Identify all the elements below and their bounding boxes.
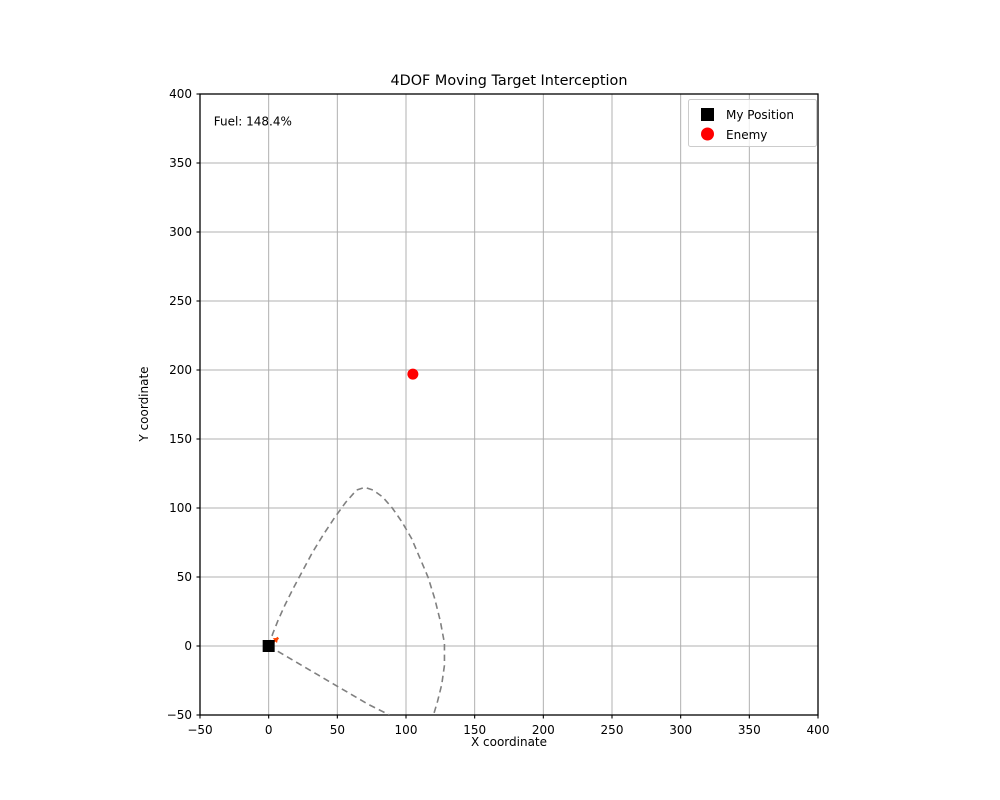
enemy-marker — [407, 369, 418, 380]
y-tick-label: −50 — [167, 708, 192, 722]
y-axis-label: Y coordinate — [137, 366, 151, 442]
x-tick-label: −50 — [187, 723, 212, 737]
y-tick-label: 400 — [169, 87, 192, 101]
y-tick-label: 350 — [169, 156, 192, 170]
y-tick-label: 300 — [169, 225, 192, 239]
page-title: 4DOF Moving Target Interception — [390, 73, 627, 89]
y-tick-label: 100 — [169, 501, 192, 515]
y-tick-label: 200 — [169, 363, 192, 377]
x-axis-label: X coordinate — [471, 735, 547, 749]
x-tick-label: 300 — [669, 723, 692, 737]
y-tick-label: 250 — [169, 294, 192, 308]
x-tick-label: 400 — [807, 723, 830, 737]
x-tick-label: 350 — [738, 723, 761, 737]
plot-canvas: −50050100150200250300350400−500501001502… — [0, 0, 1000, 800]
x-tick-label: 0 — [265, 723, 273, 737]
circle-marker-icon — [701, 128, 714, 141]
my-position-marker — [263, 640, 275, 652]
x-tick-label: 100 — [395, 723, 418, 737]
square-marker-icon — [701, 108, 714, 121]
matplotlib-figure: −50050100150200250300350400−500501001502… — [0, 0, 1000, 800]
legend-label-enemy: Enemy — [726, 128, 767, 142]
x-tick-label: 250 — [601, 723, 624, 737]
fuel-readout: Fuel: 148.4% — [214, 115, 292, 129]
y-tick-label: 0 — [184, 639, 192, 653]
annotation-layer: Fuel: 148.4% — [214, 115, 292, 129]
y-tick-label: 150 — [169, 432, 192, 446]
x-tick-label: 50 — [330, 723, 345, 737]
y-tick-label: 50 — [177, 570, 192, 584]
legend-label-my-position: My Position — [726, 108, 794, 122]
legend[interactable]: My Position Enemy — [689, 100, 817, 147]
plot-area-background — [200, 94, 818, 715]
